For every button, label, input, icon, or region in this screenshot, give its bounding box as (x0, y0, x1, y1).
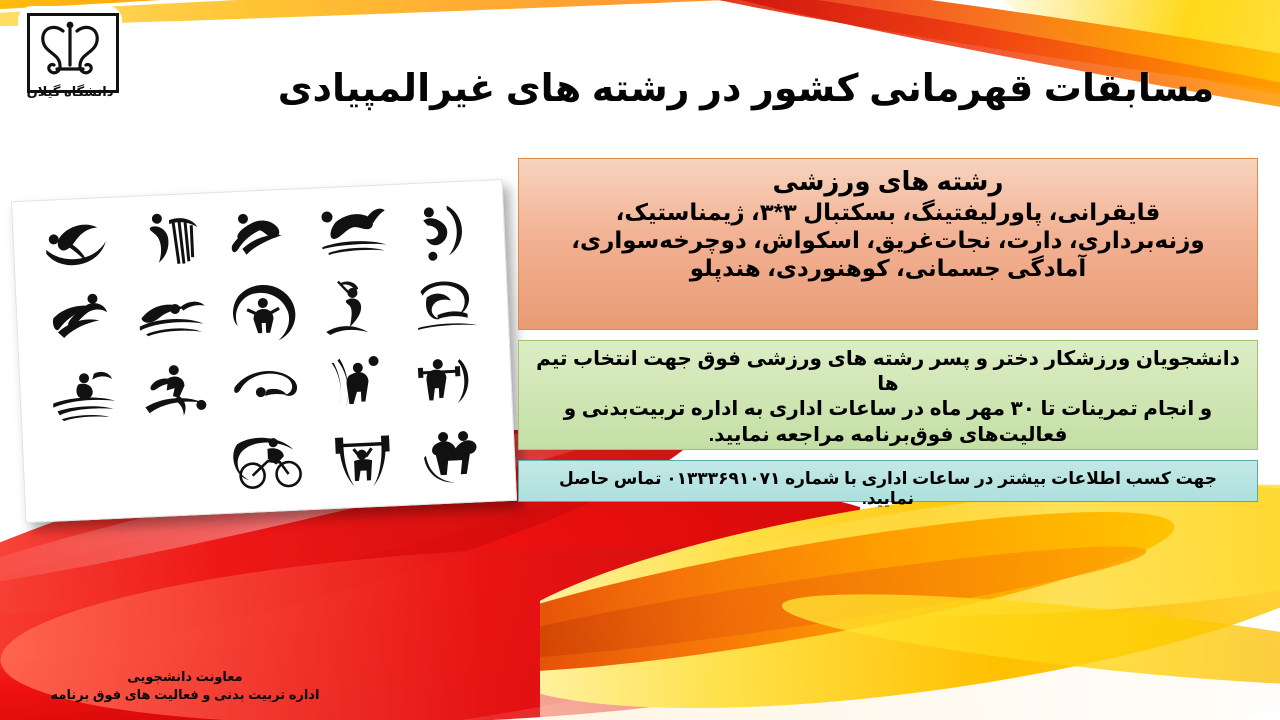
logo-emblem-icon (27, 13, 113, 87)
running-icon (133, 356, 216, 430)
water-polo-icon (41, 360, 124, 434)
footer-line-1: معاونت دانشجویی (20, 668, 350, 686)
ribbon-band (0, 0, 1280, 16)
notice-line-1: دانشجویان ورزشکار دختر و پسر رشته های ور… (531, 347, 1245, 397)
ribbon-band (540, 614, 1280, 720)
barbell-lift-icon (320, 422, 403, 496)
soccer-icon (402, 193, 485, 267)
sports-pictograms-card (11, 179, 517, 523)
notice-line-3: فعالیت‌های فوق‌برنامه مراجعه نمایید. (531, 423, 1245, 448)
poster-canvas: دانشگاه گیلان مسابقات قهرمانی کشور در رش… (0, 0, 1280, 720)
skating-icon (38, 285, 121, 359)
volleyball-dive-icon (310, 198, 393, 272)
contact-info-box: جهت کسب اطلاعات بیشتر در ساعات اداری با … (518, 460, 1258, 502)
page-title: مسابقات قهرمانی کشور در رشته های غیرالمپ… (226, 68, 1266, 112)
ribbon-band (540, 481, 1182, 704)
diving-icon (225, 352, 308, 426)
sports-box-line-2: وزنه‌برداری، دارت، نجات‌غریق، اسکواش، دو… (531, 226, 1245, 254)
swimming-icon (130, 281, 213, 355)
university-logo: دانشگاه گیلان (18, 6, 122, 110)
ribbon-band (540, 529, 1150, 678)
sports-box-line-3: آمادگی جسمانی، کوهنوردی، هندپلو (531, 254, 1245, 282)
wrestling-throw-icon (218, 202, 301, 276)
footer-credits: معاونت دانشجویی اداره تربیت بدنی و فعالی… (20, 668, 350, 703)
weightlifting-icon (409, 343, 492, 417)
ribbon-band (0, 0, 1280, 38)
archery-icon (126, 206, 209, 280)
sports-box-heading: رشته های ورزشی (531, 167, 1245, 196)
gymnastics-icon (406, 268, 489, 342)
ribbon-band (0, 0, 1280, 28)
ribbon-band (779, 576, 1280, 705)
footer-line-2: اداره تربیت بدنی و فعالیت های فوق برنامه (20, 686, 350, 704)
exercise-circle-icon (222, 277, 305, 351)
cycling-icon (229, 427, 312, 501)
notice-line-2: و انجام تمرینات تا ۳۰ مهر ماه در ساعات ا… (531, 397, 1245, 422)
contact-line: جهت کسب اطلاعات بیشتر در ساعات اداری با … (531, 469, 1245, 510)
judo-icon (412, 418, 495, 492)
pictogram-grid (28, 191, 501, 512)
sports-disciplines-box: رشته های ورزشی قایقرانی، پاورلیفتینگ، بس… (518, 158, 1258, 330)
sports-box-line-1: قایقرانی، پاورلیفتینگ، بسکتبال ۳*۳، ژیمن… (531, 198, 1245, 226)
logo-caption: دانشگاه گیلان (18, 84, 122, 100)
registration-notice-box: دانشجویان ورزشکار دختر و پسر رشته های ور… (518, 340, 1258, 450)
handball-icon (317, 347, 400, 421)
surfing-icon (35, 210, 118, 284)
golf-icon (314, 273, 397, 347)
